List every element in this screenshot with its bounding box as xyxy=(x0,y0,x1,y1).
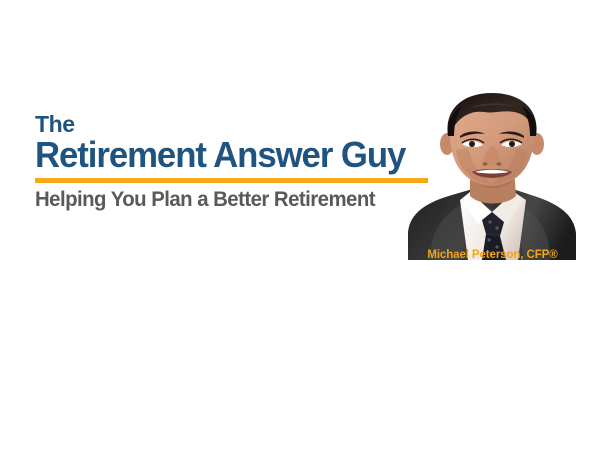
logo-wordmark: The Retirement Answer Guy Helping You Pl… xyxy=(35,112,435,212)
logo-brand-name: Retirement Answer Guy xyxy=(35,135,421,175)
orange-divider-rule xyxy=(35,178,428,183)
portrait-illustration xyxy=(400,92,585,260)
retirement-answer-guy-logo-banner: The Retirement Answer Guy Helping You Pl… xyxy=(0,0,600,290)
logo-tagline: Helping You Plan a Better Retirement xyxy=(35,187,423,212)
portrait-vector-art xyxy=(400,92,585,260)
portrait-credit-name: Michael Peterson, CFP® xyxy=(400,249,585,261)
